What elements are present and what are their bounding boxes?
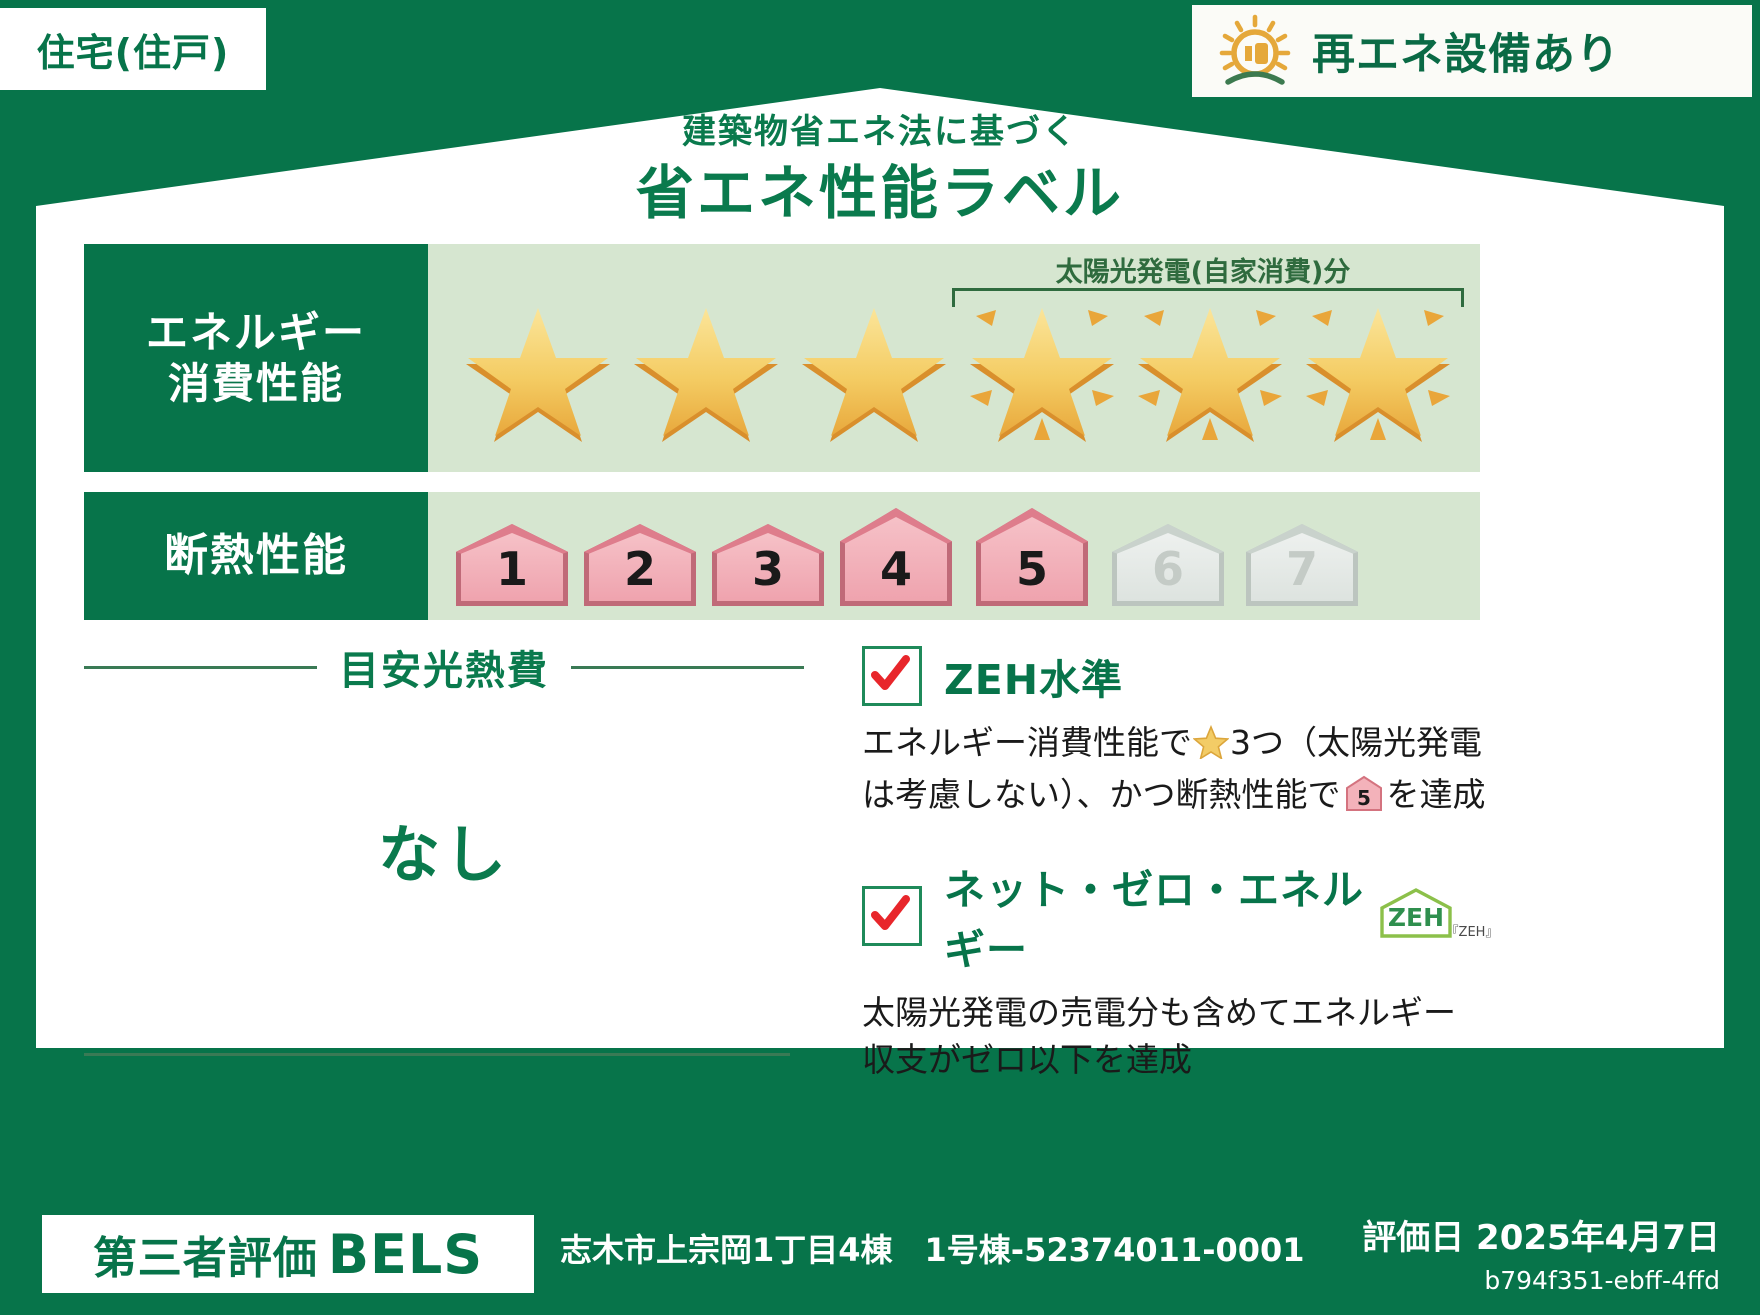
utility-cost-heading-text: 目安光熱費 — [317, 638, 571, 696]
star-icon — [794, 290, 954, 442]
bels-label-root: 住宅(住戸) 再エ — [0, 0, 1760, 1315]
energy-performance-label: エネルギー 消費性能 — [84, 244, 428, 472]
zeh-standard-description: エネルギー消費性能で 3つ（太陽光発電 は考慮しない）、かつ断熱性能で 5 を達… — [862, 720, 1492, 826]
footer: 第三者評価 BELS 志木市上宗岡1丁目4棟 1号棟-52374011-0001… — [0, 1195, 1760, 1315]
star-rating — [428, 244, 1480, 472]
house-icon: 3 — [706, 522, 830, 610]
house-icon: 4 — [834, 506, 958, 610]
heading-rule-right — [571, 666, 804, 669]
net-zero-header: ネット・ゼロ・エネルギー ZEH 『ZEH』 — [862, 856, 1492, 976]
utility-cost-heading: 目安光熱費 — [84, 638, 804, 696]
house-badge-icon: 5 — [1344, 775, 1384, 826]
zeh-logo: ZEH 『ZEH』 — [1372, 886, 1492, 946]
insulation-level-number: 6 — [1106, 542, 1230, 596]
house-icon: 5 — [970, 506, 1094, 610]
insulation-level-number: 5 — [970, 542, 1094, 596]
insulation-level-number: 1 — [450, 542, 574, 596]
star-icon — [1130, 290, 1290, 442]
insulation-level-scale: 1234567 — [428, 492, 1480, 620]
house-icon: 7 — [1240, 522, 1364, 610]
evaluation-date: 評価日 2025年4月7日 — [1362, 1210, 1720, 1259]
net-zero-description: 太陽光発電の売電分も含めてエネルギー 収支がゼロ以下を達成 — [862, 990, 1492, 1084]
zeh-standard-header: ZEH水準 — [862, 646, 1492, 706]
sun-plug-icon — [1212, 12, 1298, 90]
utility-cost-value: なし — [84, 804, 804, 894]
certificate-uid: b794f351-ebff-4ffd — [1484, 1266, 1720, 1295]
insulation-level-number: 3 — [706, 542, 830, 596]
zeh-logo-text: ZEH — [1388, 903, 1444, 932]
renewable-equipment-label: 再エネ設備あり — [1312, 20, 1620, 82]
bels-name: BELS — [328, 1223, 483, 1286]
bels-prefix: 第三者評価 — [93, 1222, 318, 1286]
star-icon — [626, 290, 786, 442]
property-address: 志木市上宗岡1丁目4棟 1号棟-52374011-0001 — [560, 1225, 1305, 1271]
energy-star-field: 太陽光発電(自家消費)分 — [428, 244, 1480, 472]
check-item-zeh-standard: ZEH水準 エネルギー消費性能で 3つ（太陽光発電 は考慮しない）、かつ断熱性能… — [862, 646, 1492, 826]
insulation-performance-row: 断熱性能 1234567 — [84, 492, 1480, 620]
zeh-standard-title: ZEH水準 — [944, 646, 1123, 706]
star-icon — [962, 290, 1122, 442]
star-icon — [1298, 290, 1458, 442]
star-icon — [458, 290, 618, 442]
zeh-logo-sub: 『ZEH』 — [1446, 925, 1492, 940]
net-zero-title: ネット・ゼロ・エネルギー — [944, 856, 1364, 976]
utility-cost-block: 目安光熱費 なし — [84, 638, 804, 894]
insulation-level-number: 2 — [578, 542, 702, 596]
insulation-level-field: 1234567 — [428, 492, 1480, 620]
house-icon: 6 — [1106, 522, 1230, 610]
certification-checklist: ZEH水準 エネルギー消費性能で 3つ（太陽光発電 は考慮しない）、かつ断熱性能… — [862, 646, 1492, 1083]
bels-logo: 第三者評価 BELS — [42, 1215, 534, 1293]
insulation-level-number: 7 — [1240, 542, 1364, 596]
net-zero-checkbox[interactable] — [862, 886, 922, 946]
dwelling-type-tag: 住宅(住戸) — [0, 8, 266, 90]
insulation-level-number: 4 — [834, 542, 958, 596]
house-icon: 1 — [450, 522, 574, 610]
dwelling-type-label: 住宅(住戸) — [37, 22, 230, 77]
renewable-equipment-badge: 再エネ設備あり — [1192, 5, 1752, 97]
house-icon: 2 — [578, 522, 702, 610]
energy-performance-row: エネルギー 消費性能 太陽光発電(自家消費)分 — [84, 244, 1480, 472]
star-icon — [1193, 725, 1229, 772]
house-badge-number: 5 — [1357, 786, 1371, 810]
evaluation-date-label: 評価日 — [1362, 1218, 1464, 1258]
utility-cost-bottom-rule — [84, 1053, 790, 1056]
check-item-net-zero: ネット・ゼロ・エネルギー ZEH 『ZEH』 太陽光発電の売電分も含めてエネルギ… — [862, 856, 1492, 1084]
heading-rule-left — [84, 666, 317, 669]
title-main: 省エネ性能ラベル — [0, 146, 1760, 230]
insulation-performance-label: 断熱性能 — [84, 492, 428, 620]
evaluation-date-value: 2025年4月7日 — [1476, 1218, 1720, 1258]
zeh-standard-checkbox[interactable] — [862, 646, 922, 706]
